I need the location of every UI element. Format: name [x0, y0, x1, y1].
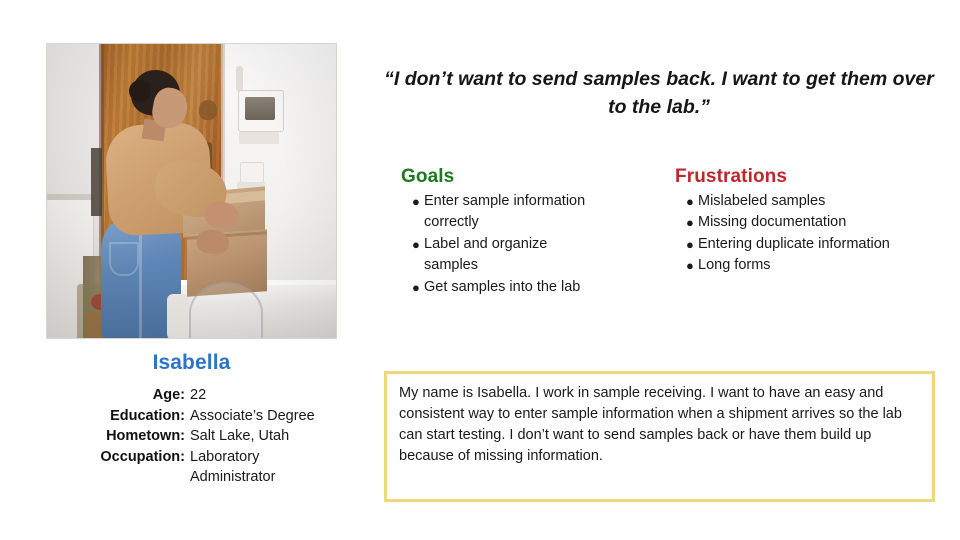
photo-vignette: [47, 44, 336, 338]
bullet-icon: ●: [394, 191, 424, 212]
frustrations-item-text: Missing documentation: [698, 212, 846, 233]
attribute-value-hometown: Salt Lake, Utah: [190, 426, 337, 447]
frustrations-item-text: Long forms: [698, 255, 771, 276]
persona-bio-text: My name is Isabella. I work in sample re…: [399, 383, 919, 468]
persona-bio-box: My name is Isabella. I work in sample re…: [384, 371, 935, 502]
bullet-icon: ●: [394, 234, 424, 255]
persona-slide: Isabella Age: 22 Education: Associate’s …: [0, 0, 960, 540]
attribute-value-education: Associate’s Degree: [190, 406, 337, 427]
bullet-icon: ●: [668, 212, 698, 233]
persona-quote: “I don’t want to send samples back. I wa…: [383, 66, 935, 121]
bullet-icon: ●: [668, 234, 698, 255]
frustrations-list-item: ● Missing documentation: [668, 212, 935, 233]
persona-attributes: Age: 22 Education: Associate’s Degree Ho…: [46, 385, 337, 488]
frustrations-list-item: ● Long forms: [668, 255, 935, 276]
attribute-value-occupation: Laboratory Administrator: [190, 447, 337, 488]
goals-list: ● Enter sample information correctly ● L…: [394, 191, 659, 298]
attribute-value-age: 22: [190, 385, 337, 406]
attribute-label-age: Age:: [46, 385, 190, 406]
attribute-label-occupation: Occupation:: [46, 447, 190, 488]
frustrations-item-text: Mislabeled samples: [698, 191, 825, 212]
bullet-icon: ●: [668, 255, 698, 276]
goals-list-item: ● Label and organize samples: [394, 234, 659, 277]
goals-list-item: ● Enter sample information correctly: [394, 191, 659, 234]
frustrations-section: Frustrations ● Mislabeled samples ● Miss…: [659, 166, 935, 298]
goals-item-text: Enter sample information correctly: [424, 191, 604, 234]
goals-frustrations-row: Goals ● Enter sample information correct…: [383, 166, 935, 298]
attribute-label-education: Education:: [46, 406, 190, 427]
frustrations-list-item: ● Mislabeled samples: [668, 191, 935, 212]
attribute-row-hometown: Hometown: Salt Lake, Utah: [46, 426, 337, 447]
persona-photo: [46, 43, 337, 339]
frustrations-list: ● Mislabeled samples ● Missing documenta…: [668, 191, 935, 277]
frustrations-item-text: Entering duplicate information: [698, 234, 890, 255]
attribute-label-hometown: Hometown:: [46, 426, 190, 447]
frustrations-heading: Frustrations: [675, 166, 935, 188]
persona-name: Isabella: [46, 351, 337, 375]
bullet-icon: ●: [394, 277, 424, 298]
attribute-row-occupation: Occupation: Laboratory Administrator: [46, 447, 337, 488]
goals-item-text: Label and organize samples: [424, 234, 604, 277]
bullet-icon: ●: [668, 191, 698, 212]
goals-item-text: Get samples into the lab: [424, 277, 580, 298]
attribute-row-age: Age: 22: [46, 385, 337, 406]
attribute-row-education: Education: Associate’s Degree: [46, 406, 337, 427]
goals-heading: Goals: [401, 166, 659, 188]
persona-profile-column: Isabella Age: 22 Education: Associate’s …: [46, 43, 337, 488]
goals-list-item: ● Get samples into the lab: [394, 277, 659, 298]
goals-section: Goals ● Enter sample information correct…: [383, 166, 659, 298]
frustrations-list-item: ● Entering duplicate information: [668, 234, 935, 255]
